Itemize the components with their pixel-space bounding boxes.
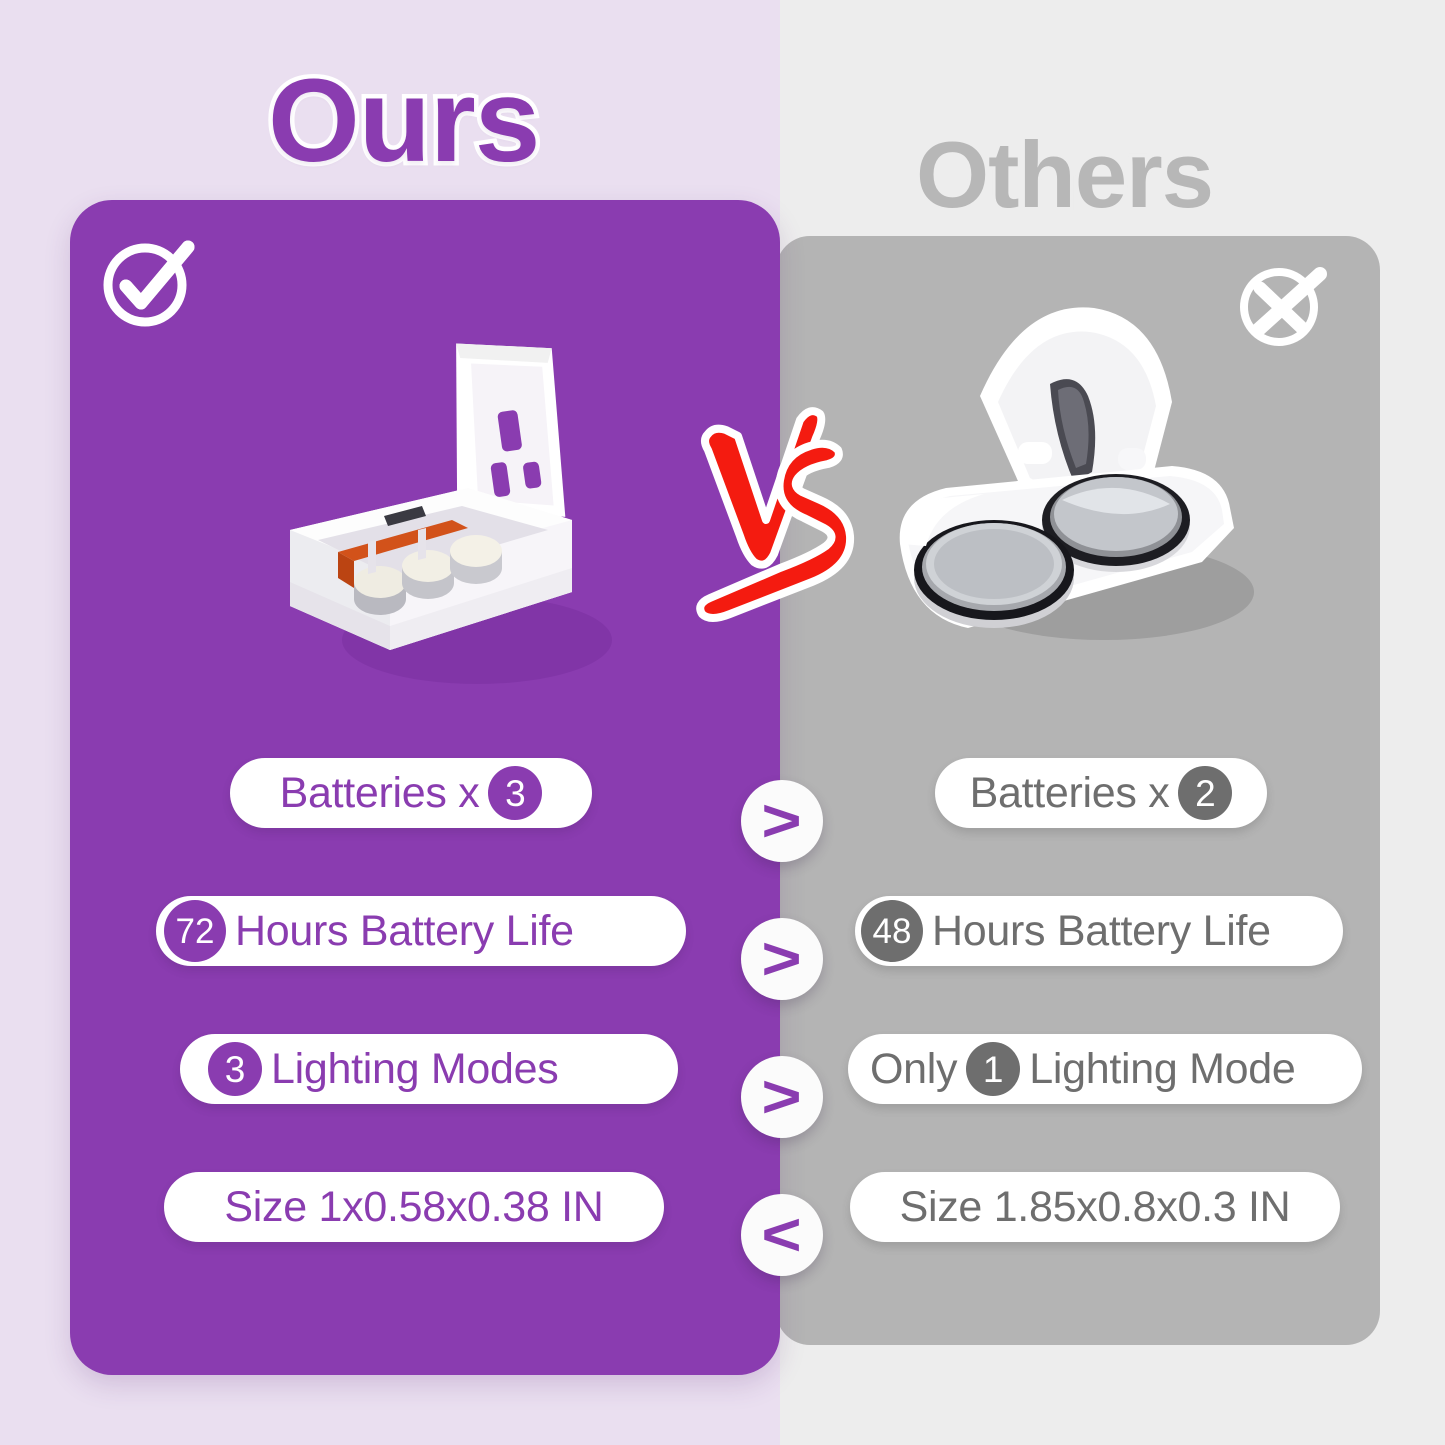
page-title-ours: Ours	[268, 62, 539, 180]
operator-glyph: >	[762, 1067, 802, 1127]
feature-pill-ours[interactable]: 3 Lighting Modes	[180, 1034, 678, 1104]
comparison-row: Batteries x 3 > Batteries x 2	[0, 758, 1445, 896]
feature-badge-ours: 3	[488, 766, 542, 820]
check-circle-icon	[100, 238, 196, 335]
feature-pill-others[interactable]: Size 1.85x0.8x0.3 IN	[850, 1172, 1340, 1242]
page-title-others: Others	[916, 128, 1213, 222]
feature-label-others: Batteries x	[970, 772, 1170, 815]
product-image-ours	[272, 320, 612, 725]
feature-label-ours: Hours Battery Life	[235, 910, 574, 953]
feature-pill-others[interactable]: 48 Hours Battery Life	[855, 896, 1343, 966]
comparison-operator: >	[741, 1056, 823, 1138]
comparison-infographic: Ours Others	[0, 0, 1445, 1445]
comparison-rows: Batteries x 3 > Batteries x 2 72 Hours B…	[0, 758, 1445, 1310]
feature-badge-ours: 3	[208, 1042, 262, 1096]
feature-pill-others[interactable]: Only 1 Lighting Mode	[848, 1034, 1362, 1104]
feature-label-others: Size 1.85x0.8x0.3 IN	[900, 1186, 1291, 1229]
operator-glyph: <	[762, 1205, 802, 1265]
feature-label-ours: Batteries x	[280, 772, 480, 815]
comparison-row: 3 Lighting Modes > Only 1 Lighting Mode	[0, 1034, 1445, 1172]
feature-prefix-others: Only	[870, 1048, 957, 1091]
product-image-others	[872, 276, 1280, 689]
feature-badge-others: 48	[861, 900, 923, 962]
versus-icon	[688, 402, 860, 637]
feature-label-others: Lighting Mode	[1029, 1048, 1295, 1091]
feature-pill-ours[interactable]: Batteries x 3	[230, 758, 592, 828]
feature-badge-others: 2	[1178, 766, 1232, 820]
operator-glyph: >	[762, 791, 802, 851]
operator-glyph: >	[762, 929, 802, 989]
feature-badge-ours: 72	[164, 900, 226, 962]
comparison-row: Size 1x0.58x0.38 IN < Size 1.85x0.8x0.3 …	[0, 1172, 1445, 1310]
comparison-operator: <	[741, 1194, 823, 1276]
comparison-operator: >	[741, 780, 823, 862]
comparison-row: 72 Hours Battery Life > 48 Hours Battery…	[0, 896, 1445, 1034]
feature-pill-ours[interactable]: 72 Hours Battery Life	[156, 896, 686, 966]
comparison-operator: >	[741, 918, 823, 1000]
feature-pill-ours[interactable]: Size 1x0.58x0.38 IN	[164, 1172, 664, 1242]
feature-label-ours: Lighting Modes	[271, 1048, 558, 1091]
feature-pill-others[interactable]: Batteries x 2	[935, 758, 1267, 828]
feature-label-ours: Size 1x0.58x0.38 IN	[224, 1186, 603, 1229]
feature-label-others: Hours Battery Life	[932, 910, 1271, 953]
feature-badge-others: 1	[966, 1042, 1020, 1096]
